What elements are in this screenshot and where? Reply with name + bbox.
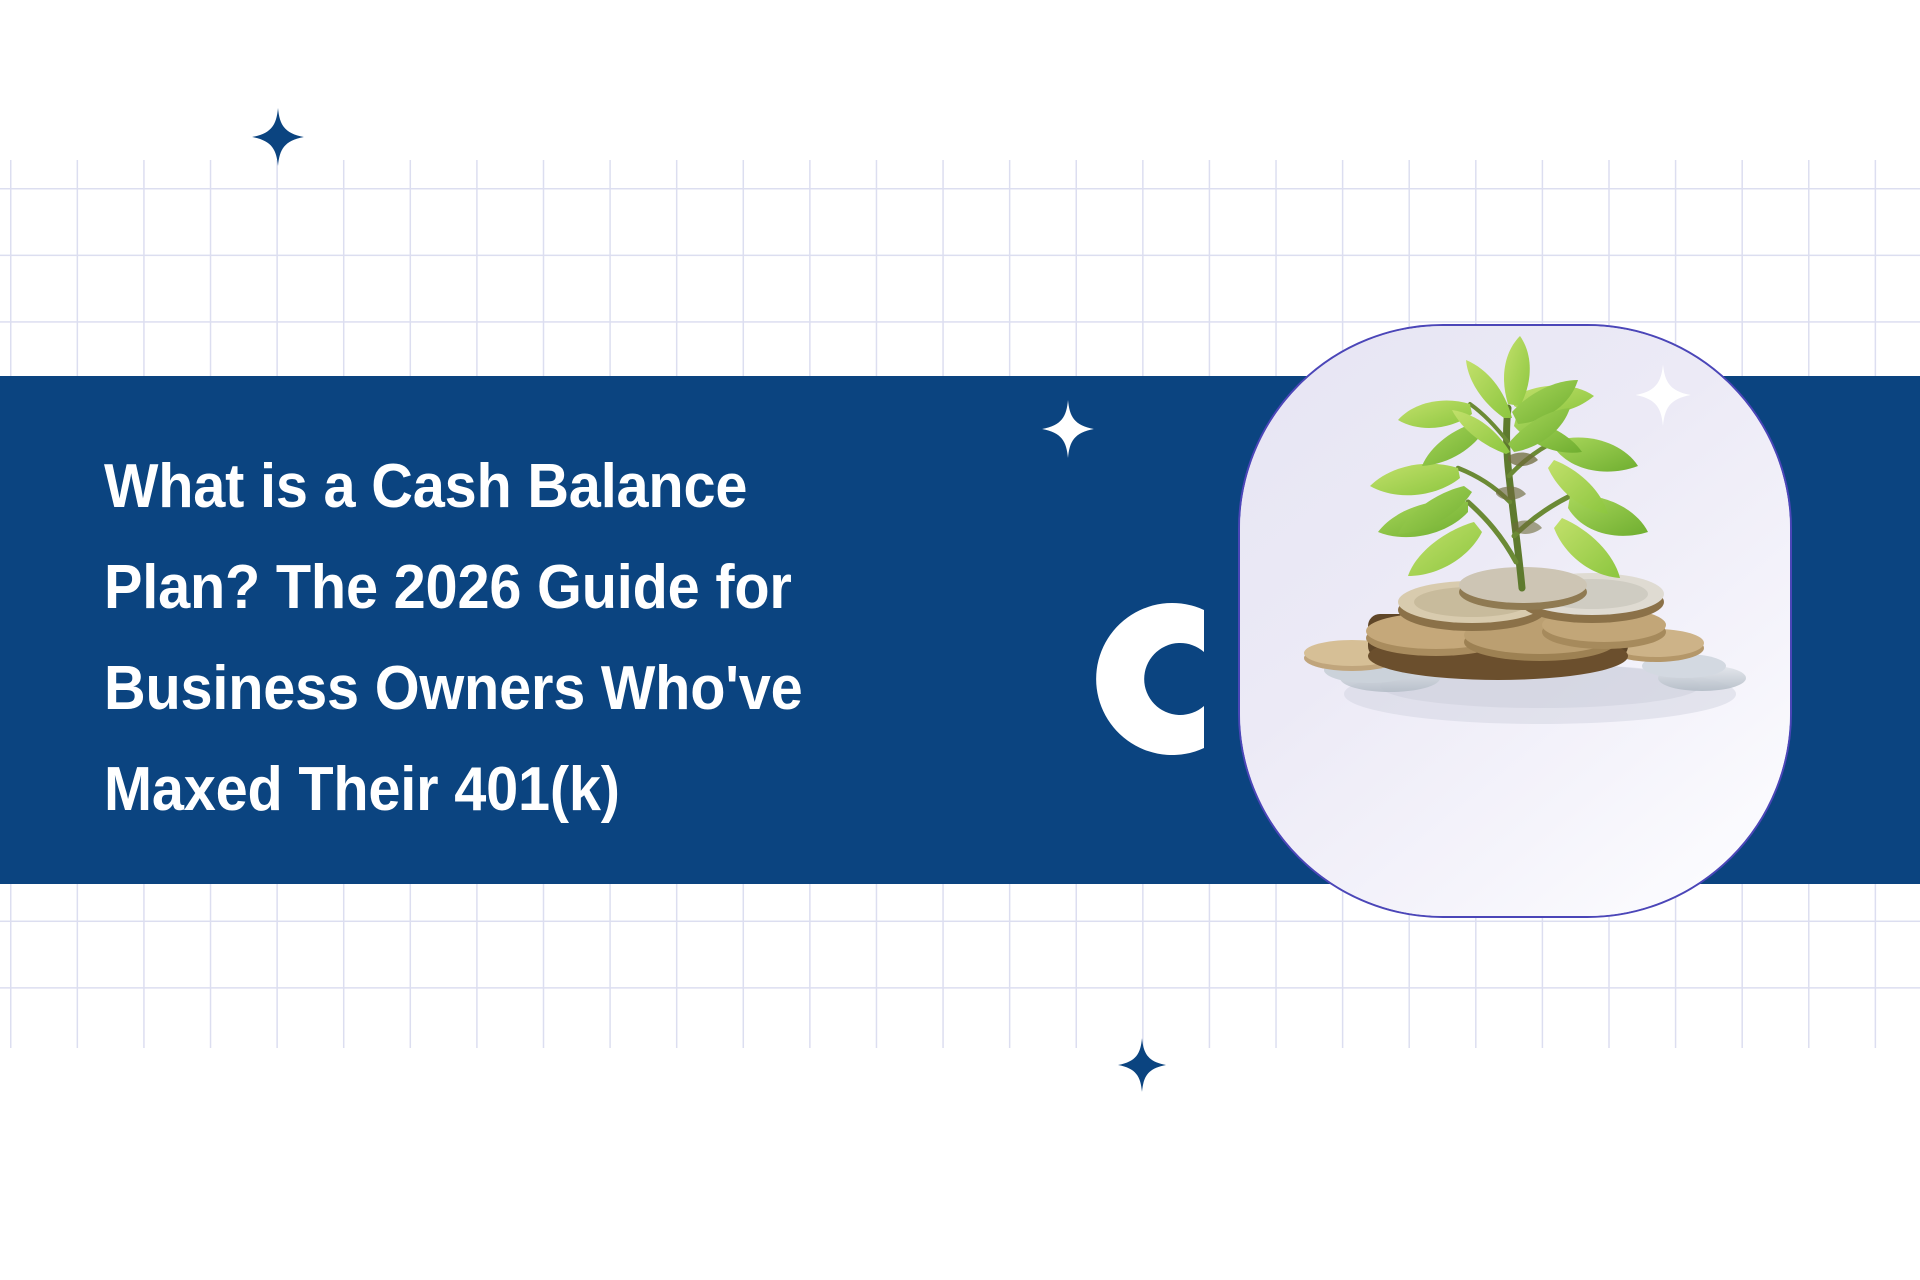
c-ring-icon (1054, 570, 1272, 788)
sparkle-icon (1118, 1038, 1166, 1092)
plant-coins-photo (1240, 326, 1790, 916)
sparkle-icon (252, 108, 304, 166)
sparkle-icon (1634, 364, 1692, 426)
page-title: What is a Cash Balance Plan? The 2026 Gu… (104, 436, 922, 840)
hero-banner: What is a Cash Balance Plan? The 2026 Gu… (0, 0, 1920, 1280)
sparkle-icon (1042, 400, 1094, 458)
hero-image-card: Green seedling plant growing out of a pi… (1238, 324, 1792, 918)
